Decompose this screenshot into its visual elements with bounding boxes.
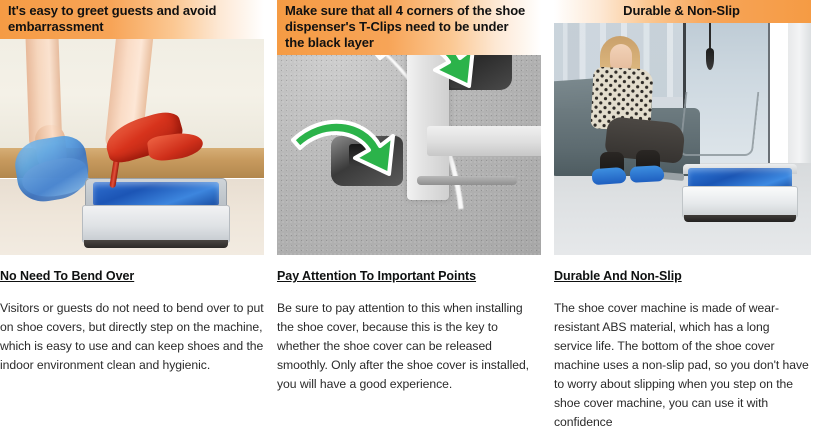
panel-3-media: Durable & Non-Slip <box>554 0 811 255</box>
panel-2-media: Make sure that all 4 corners of the shoe… <box>277 0 541 255</box>
panel-1-banner: It's easy to greet guests and avoid emba… <box>0 0 264 39</box>
curtain <box>788 0 811 189</box>
panel-1-caption-body: Visitors or guests do not need to bend o… <box>0 299 264 375</box>
panel-3-photo <box>554 0 811 255</box>
machine-base <box>684 215 796 222</box>
feature-panel-3: Durable & Non-Slip Durable And Non-Slip … <box>554 0 811 420</box>
panel-1-media: It's easy to greet guests and avoid emba… <box>0 0 264 255</box>
arrow-lower-icon <box>293 122 393 174</box>
panel-3-caption-body: The shoe cover machine is made of wear-r… <box>554 299 811 432</box>
feature-panel-2: Make sure that all 4 corners of the shoe… <box>277 0 541 420</box>
blue-shoe-cover-left <box>591 167 626 185</box>
machine-base <box>84 240 228 248</box>
blue-shoe-cover-right <box>630 165 665 183</box>
pendant-lamp <box>706 48 714 70</box>
wire-stand <box>679 92 760 156</box>
panel-2-caption-body: Be sure to pay attention to this when in… <box>277 299 541 394</box>
panel-1-caption-title: No Need To Bend Over <box>0 268 264 284</box>
machine-body <box>82 205 230 243</box>
panel-3-caption: Durable And Non-Slip The shoe cover mach… <box>554 268 811 432</box>
panel-3-banner: Durable & Non-Slip <box>554 0 811 23</box>
machine-body <box>682 186 798 218</box>
panel-3-caption-title: Durable And Non-Slip <box>554 268 811 284</box>
feature-panels-board: It's easy to greet guests and avoid emba… <box>0 0 820 420</box>
panel-2-caption-title: Pay Attention To Important Points <box>277 268 541 284</box>
feature-panel-1: It's easy to greet guests and avoid emba… <box>0 0 264 420</box>
panel-2-banner: Make sure that all 4 corners of the shoe… <box>277 0 541 55</box>
panel-2-caption: Pay Attention To Important Points Be sur… <box>277 268 541 394</box>
panel-1-caption: No Need To Bend Over Visitors or guests … <box>0 268 264 375</box>
